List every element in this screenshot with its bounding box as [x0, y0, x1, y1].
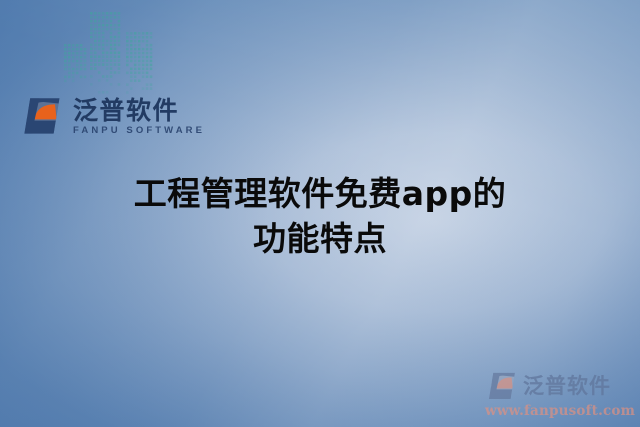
fanpu-logo-mark-icon [19, 97, 65, 135]
page-title-line-2: 功能特点 [0, 217, 640, 262]
watermark-name-cn: 泛普软件 [523, 376, 611, 397]
brand-name-en: FANPU SOFTWARE [73, 126, 205, 136]
pixel-skyline-icon [44, 6, 156, 98]
brand-logo-lockup: 泛普软件 FANPU SOFTWARE [19, 97, 205, 136]
fanpu-watermark-logo-mark-icon [485, 372, 519, 400]
brand-wordmark: 泛普软件 FANPU SOFTWARE [73, 98, 205, 136]
watermark-url: www.fanpusoft.com [485, 403, 631, 419]
brand-name-cn: 泛普软件 [73, 98, 205, 123]
promo-banner: 泛普软件 FANPU SOFTWARE 工程管理软件免费app的 功能特点 [0, 0, 640, 427]
watermark: 泛普软件 www.fanpusoft.com [485, 372, 631, 419]
page-title: 工程管理软件免费app的 功能特点 [0, 172, 640, 262]
watermark-lockup: 泛普软件 [485, 372, 631, 400]
page-title-line-1: 工程管理软件免费app的 [0, 172, 640, 217]
